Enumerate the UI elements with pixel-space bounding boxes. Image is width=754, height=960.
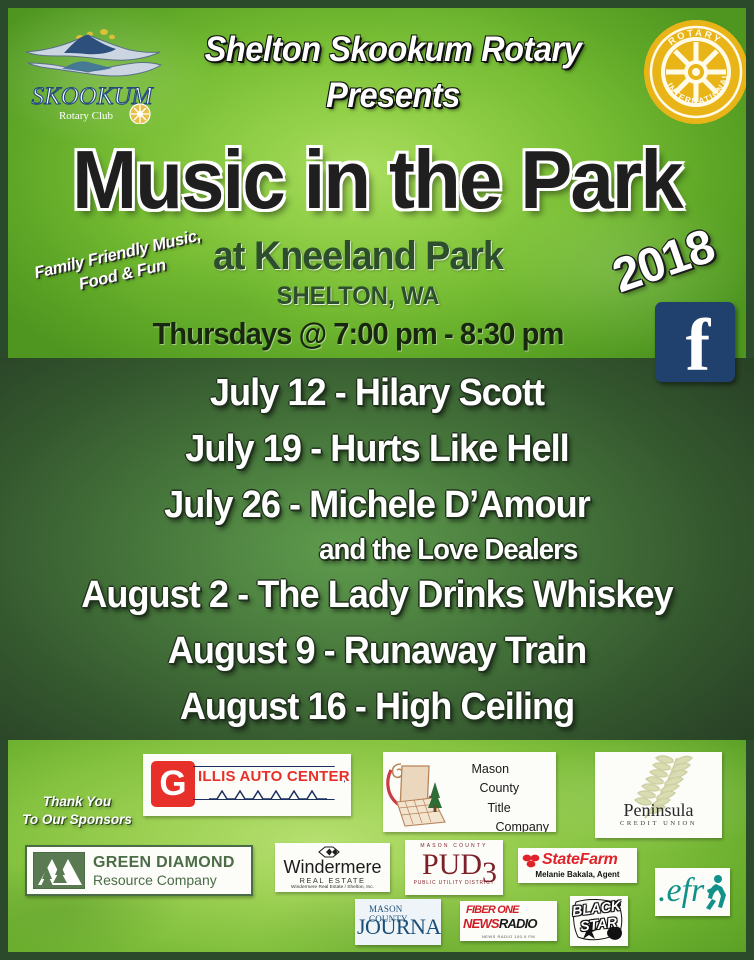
sponsor-logo-state-farm: StateFarm Melanie Bakala, Agent xyxy=(518,848,637,883)
sponsor-logo-fiber-one-news-radio: FIBER ONE NEWSRADIO NEWS RADIO 100.9 FM xyxy=(460,901,557,941)
music-in-the-park-poster: SKOOKUM Rotary Club xyxy=(0,0,754,960)
rotary-international-logo: ROTARY INTERNATIONAL xyxy=(640,16,746,128)
state-farm-agent-name: Melanie Bakala, Agent xyxy=(518,870,637,879)
pud-tagline: PUBLIC UTILITY DISTRICT xyxy=(405,880,503,886)
windermere-office-line: Windermere Real Estate / Shelton, Inc. xyxy=(275,885,390,890)
list-item: August 2 - The Lady Drinks Whiskey xyxy=(19,574,735,617)
fiber-one-station-line: NEWS RADIO 100.9 FM xyxy=(460,934,557,939)
list-item: August 9 - Runaway Train xyxy=(19,630,735,673)
sponsor-logo-green-diamond-resource-company: GREEN DIAMOND Resource Company xyxy=(25,845,253,896)
sponsor-logo-mason-county-journal: MASON COUNTY JOURNAL xyxy=(355,899,441,945)
state-farm-wordmark: StateFarm xyxy=(542,851,618,869)
news-radio-wordmark: NEWSRADIO xyxy=(463,916,537,931)
city-subtitle: SHELTON, WA xyxy=(83,282,634,311)
sponsor-logo-gillis-auto-center: G ILLIS AUTO CENTER xyxy=(143,754,351,816)
gillis-key-teeth-icon xyxy=(209,790,327,800)
state-farm-trio-icon xyxy=(522,854,540,868)
fiber-one-wordmark: FIBER ONE xyxy=(466,904,519,916)
sponsor-logo-efr: .efr xyxy=(655,868,730,916)
list-item: July 26 - Michele D’Amour xyxy=(19,484,735,527)
page-title: Music in the Park xyxy=(30,132,724,228)
green-diamond-wordmark-line1: GREEN DIAMOND xyxy=(93,854,235,872)
windermere-tagline: REAL ESTATE xyxy=(275,876,390,885)
sponsor-logo-peninsula-credit-union: Peninsula CREDIT UNION xyxy=(595,752,722,838)
efr-wordmark: .efr xyxy=(658,872,704,910)
green-diamond-wordmark-line2: Resource Company xyxy=(93,872,217,888)
thanks-line-2: To Our Sponsors xyxy=(22,812,132,827)
list-item: July 19 - Hurts Like Hell xyxy=(19,428,735,471)
concert-schedule-list: July 12 - Hilary Scott July 19 - Hurts L… xyxy=(0,358,754,740)
list-item-continuation: and the Love Dealers xyxy=(19,534,735,567)
header-line-1: Shelton Skookum Rotary xyxy=(174,30,611,70)
sponsor-logo-windermere-real-estate: Windermere REAL ESTATE Windermere Real E… xyxy=(275,843,390,892)
list-item: July 12 - Hilary Scott xyxy=(19,372,735,415)
peninsula-wordmark: Peninsula xyxy=(595,800,722,821)
facebook-icon[interactable]: f xyxy=(655,302,735,382)
header-line-2: Presents xyxy=(174,76,611,116)
gillis-g-mark: G xyxy=(151,761,195,807)
efr-running-figure-icon xyxy=(703,874,727,912)
thanks-line-1: Thank You xyxy=(43,794,111,809)
thank-you-sponsors-label: Thank You To Our Sponsors xyxy=(14,793,140,829)
sponsor-logo-mason-county-pud-3: MASON COUNTY PUD 3 PUBLIC UTILITY DISTRI… xyxy=(405,840,503,895)
svg-text:Rotary Club: Rotary Club xyxy=(59,110,114,122)
facebook-glyph: f xyxy=(655,302,735,382)
windermere-wordmark: Windermere xyxy=(275,857,390,878)
green-diamond-mark-icon xyxy=(33,852,85,889)
mason-county-title-scroll-icon xyxy=(383,752,473,832)
sponsor-logo-mason-county-title-company: Mason County Title Company xyxy=(383,752,556,832)
mason-county-title-wordmark: Mason County Title Company xyxy=(472,760,550,832)
year-badge: 2018 xyxy=(606,219,721,304)
skookum-rotary-club-logo: SKOOKUM Rotary Club xyxy=(18,16,168,124)
event-times: Thursdays @ 7:00 pm - 8:30 pm xyxy=(67,316,650,352)
sponsor-logo-black-star: BLACK STAR xyxy=(570,896,628,946)
peninsula-tagline: CREDIT UNION xyxy=(595,820,722,827)
list-item: August 16 - High Ceiling xyxy=(19,686,735,729)
poster-header-banner: SKOOKUM Rotary Club xyxy=(8,8,746,360)
journal-wordmark: JOURNAL xyxy=(357,914,439,940)
gillis-wordmark: ILLIS AUTO CENTER xyxy=(198,768,350,785)
